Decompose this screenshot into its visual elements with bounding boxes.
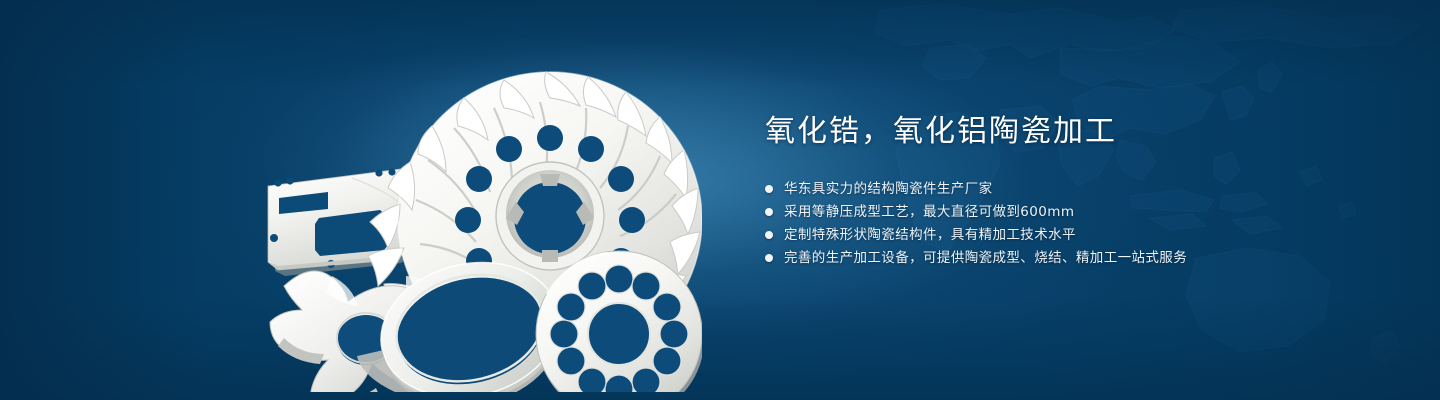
ceramic-products-image [232,42,702,392]
feature-text: 完善的生产加工设备，可提供陶瓷成型、烧结、精加工一站式服务 [784,247,1187,269]
banner-copy: 氧化锆，氧化铝陶瓷加工 华东具实力的结构陶瓷件生产厂家 采用等静压成型工艺，最大… [765,112,1385,269]
feature-text: 定制特殊形状陶瓷结构件，具有精加工技术水平 [784,224,1076,246]
list-item: 完善的生产加工设备，可提供陶瓷成型、烧结、精加工一站式服务 [765,247,1385,269]
feature-text: 采用等静压成型工艺，最大直径可做到600mm [784,201,1074,223]
bullet-dot-icon [765,231,773,239]
feature-text: 华东具实力的结构陶瓷件生产厂家 [784,178,993,200]
feature-list: 华东具实力的结构陶瓷件生产厂家 采用等静压成型工艺，最大直径可做到600mm 定… [765,178,1385,269]
bullet-dot-icon [765,254,773,262]
bullet-dot-icon [765,185,773,193]
list-item: 定制特殊形状陶瓷结构件，具有精加工技术水平 [765,224,1385,246]
list-item: 采用等静压成型工艺，最大直径可做到600mm [765,201,1385,223]
bullet-dot-icon [765,208,773,216]
promo-banner: 氧化锆，氧化铝陶瓷加工 华东具实力的结构陶瓷件生产厂家 采用等静压成型工艺，最大… [0,0,1440,400]
list-item: 华东具实力的结构陶瓷件生产厂家 [765,178,1385,200]
banner-headline: 氧化锆，氧化铝陶瓷加工 [765,112,1385,152]
